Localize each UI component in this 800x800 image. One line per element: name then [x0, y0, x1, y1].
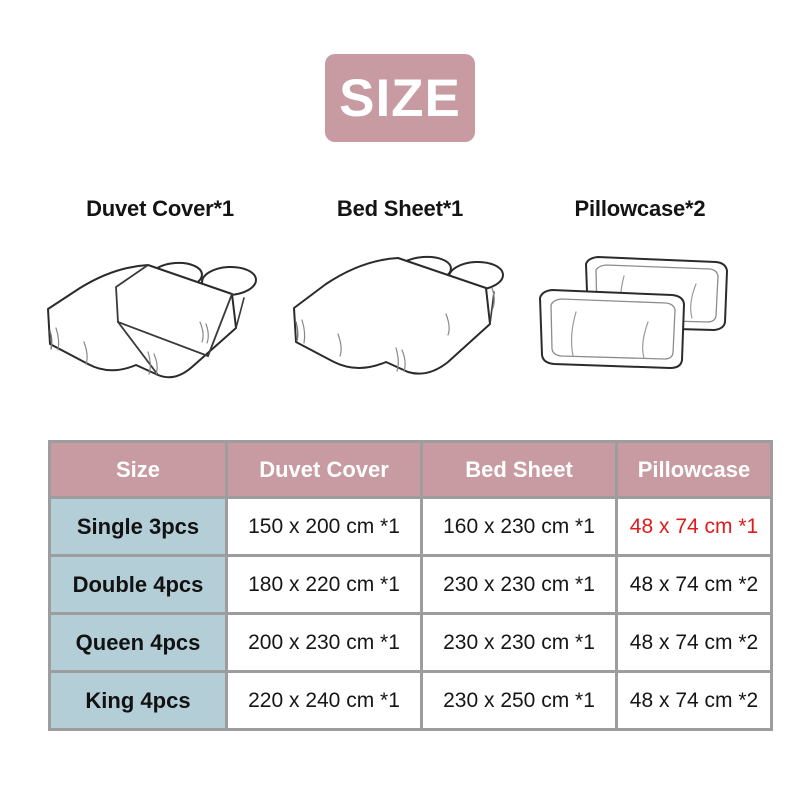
cell-duvet-cover: 180 x 220 cm *1 — [228, 557, 420, 612]
cell-pillowcase: 48 x 74 cm *2 — [618, 673, 770, 728]
column-header-pillowcase: Pillowcase — [618, 443, 770, 496]
duvet-cover-illustration-icon — [40, 236, 280, 391]
illustration-item-pillowcase: Pillowcase*2 — [520, 196, 760, 411]
cell-bed-sheet: 160 x 230 cm *1 — [423, 499, 615, 554]
cell-pillowcase: 48 x 74 cm *1 — [618, 499, 770, 554]
illustration-label-duvet-cover: Duvet Cover*1 — [86, 196, 234, 222]
column-header-size: Size — [51, 443, 225, 496]
illustration-label-pillowcase: Pillowcase*2 — [575, 196, 706, 222]
cell-pillowcase: 48 x 74 cm *2 — [618, 557, 770, 612]
column-header-bed-sheet: Bed Sheet — [423, 443, 615, 496]
pillowcase-illustration-icon — [520, 236, 760, 391]
cell-bed-sheet: 230 x 230 cm *1 — [423, 557, 615, 612]
cell-size: Single 3pcs — [51, 499, 225, 554]
illustration-label-bed-sheet: Bed Sheet*1 — [337, 196, 463, 222]
size-banner: SIZE — [325, 54, 475, 142]
size-banner-container: SIZE — [0, 54, 800, 142]
cell-size: Queen 4pcs — [51, 615, 225, 670]
size-chart-table: Size Duvet Cover Bed Sheet Pillowcase Si… — [48, 440, 773, 731]
column-header-duvet-cover: Duvet Cover — [228, 443, 420, 496]
cell-duvet-cover: 200 x 230 cm *1 — [228, 615, 420, 670]
cell-duvet-cover: 220 x 240 cm *1 — [228, 673, 420, 728]
cell-size: Double 4pcs — [51, 557, 225, 612]
illustration-row: Duvet Cover*1 — [40, 196, 760, 411]
illustration-item-bed-sheet: Bed Sheet*1 — [280, 196, 520, 411]
cell-pillowcase: 48 x 74 cm *2 — [618, 615, 770, 670]
illustration-item-duvet-cover: Duvet Cover*1 — [40, 196, 280, 411]
table-row: King 4pcs 220 x 240 cm *1 230 x 250 cm *… — [51, 673, 770, 728]
size-banner-label: SIZE — [339, 72, 461, 125]
cell-duvet-cover: 150 x 200 cm *1 — [228, 499, 420, 554]
table-row: Single 3pcs 150 x 200 cm *1 160 x 230 cm… — [51, 499, 770, 554]
cell-bed-sheet: 230 x 250 cm *1 — [423, 673, 615, 728]
cell-bed-sheet: 230 x 230 cm *1 — [423, 615, 615, 670]
table-row: Queen 4pcs 200 x 230 cm *1 230 x 230 cm … — [51, 615, 770, 670]
table-row: Double 4pcs 180 x 220 cm *1 230 x 230 cm… — [51, 557, 770, 612]
cell-size: King 4pcs — [51, 673, 225, 728]
table-header-row: Size Duvet Cover Bed Sheet Pillowcase — [51, 443, 770, 496]
bed-sheet-illustration-icon — [280, 236, 520, 391]
